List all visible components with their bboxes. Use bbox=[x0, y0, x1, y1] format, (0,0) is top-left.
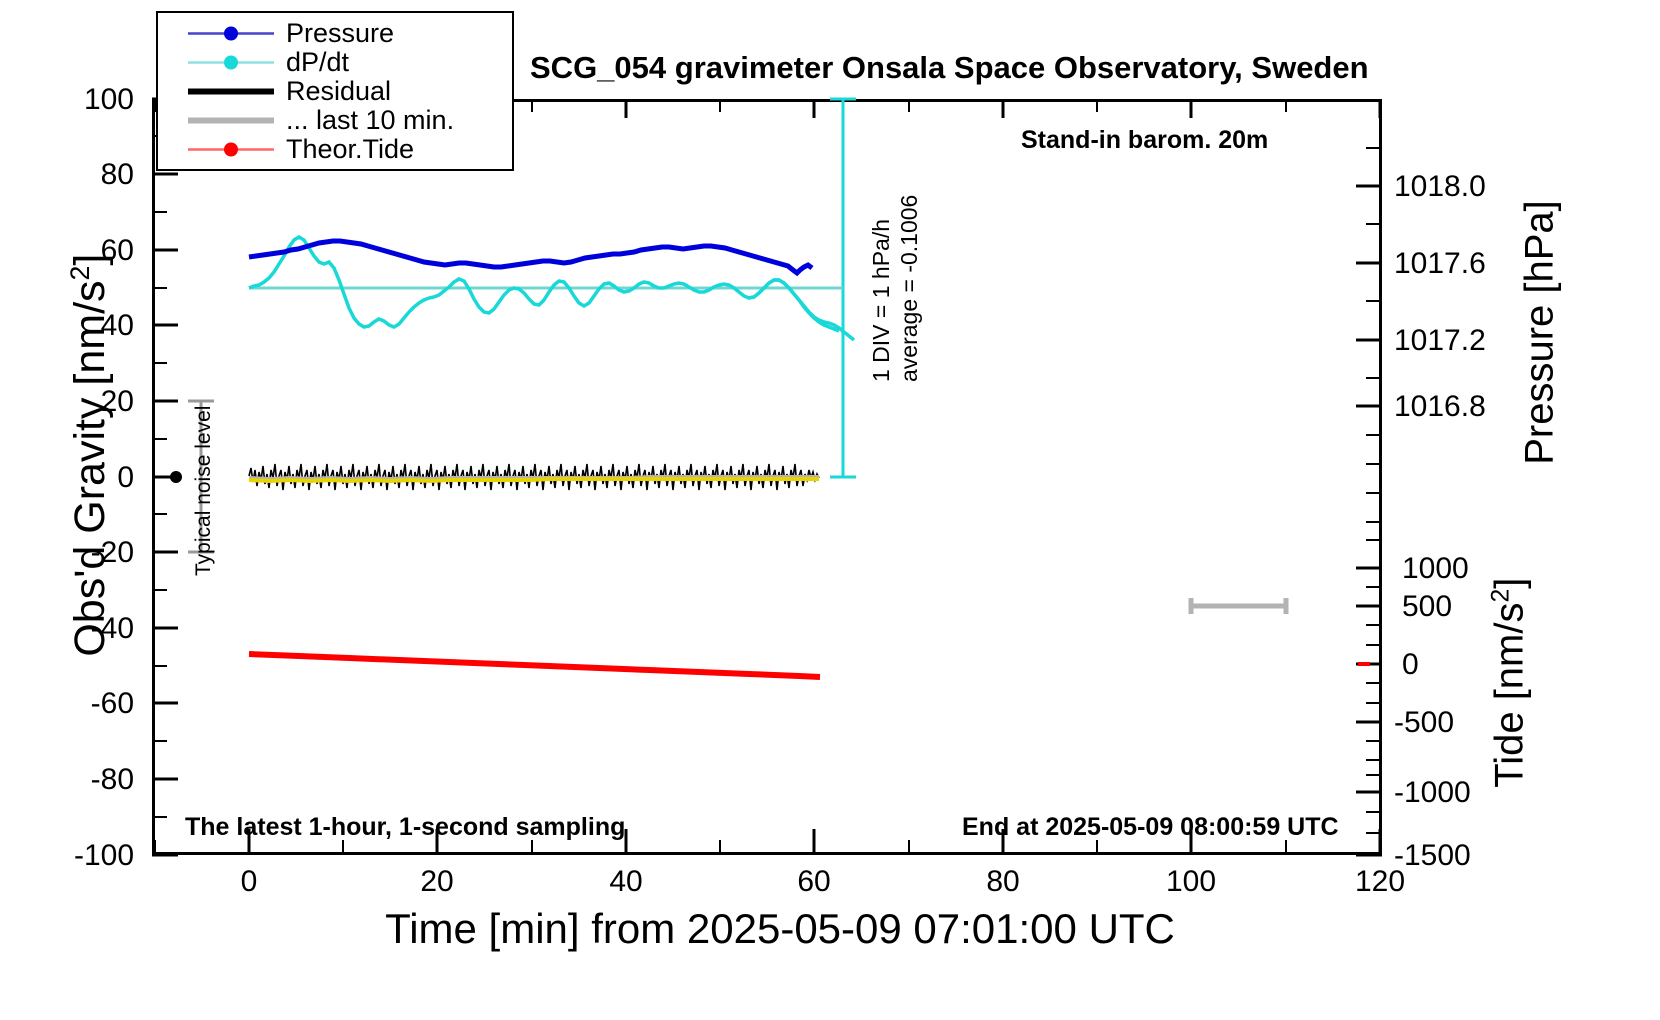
xtick-1: 20 bbox=[377, 865, 497, 899]
legend-symbol-pressure bbox=[186, 19, 276, 48]
y-axis-right-tide-title-end: ] bbox=[1488, 578, 1532, 589]
ytick-left-9: -80 bbox=[14, 763, 134, 797]
y-axis-right-tide-title-sup: 2 bbox=[1487, 589, 1514, 603]
legend-symbol-last10 bbox=[186, 106, 276, 135]
y-axis-right-tide-title: Tide [nm/s2] bbox=[1487, 473, 1532, 893]
legend[interactable]: Pressure dP/dt Residual ... last 10 min. bbox=[156, 11, 514, 171]
legend-label-theor-tide: Theor.Tide bbox=[286, 134, 414, 165]
legend-item-residual[interactable]: Residual bbox=[158, 77, 512, 106]
x-axis-title: Time [min] from 2025-05-09 07:01:00 UTC bbox=[150, 905, 1410, 953]
legend-item-last10[interactable]: ... last 10 min. bbox=[158, 106, 512, 135]
annotation-average: average = -0.1006 bbox=[896, 195, 923, 382]
right-axis-ticks bbox=[1356, 186, 1382, 855]
legend-item-pressure[interactable]: Pressure bbox=[158, 19, 512, 48]
x-axis-minor-ticks bbox=[155, 840, 1286, 855]
y-axis-left-title: Obs'd Gravity [nm/s2] bbox=[65, 175, 115, 735]
legend-symbol-residual bbox=[186, 77, 276, 106]
legend-label-residual: Residual bbox=[286, 76, 391, 107]
y-axis-left-title-sup: 2 bbox=[65, 266, 95, 281]
legend-label-dpdt: dP/dt bbox=[286, 47, 349, 78]
annotation-footer-right: End at 2025-05-09 08:00:59 UTC bbox=[962, 813, 1339, 842]
series-theor-tide bbox=[249, 654, 820, 677]
legend-item-theor-tide[interactable]: Theor.Tide bbox=[158, 135, 512, 164]
xtick-4: 80 bbox=[943, 865, 1063, 899]
xtick-0: 0 bbox=[189, 865, 309, 899]
noise-level-dot bbox=[170, 471, 182, 483]
right-axis-minor-ticks bbox=[1366, 148, 1382, 833]
annotation-div-scale: 1 DIV = 1 hPa/h bbox=[868, 219, 895, 382]
legend-symbol-theor-tide bbox=[186, 135, 276, 164]
legend-item-dpdt[interactable]: dP/dt bbox=[158, 48, 512, 77]
annotation-footer-left: The latest 1-hour, 1-second sampling bbox=[185, 813, 625, 842]
chart-root: 100 80 60 40 20 0 -20 -40 -60 -80 -100 1… bbox=[0, 0, 1660, 1020]
y-axis-left-title-text: Obs'd Gravity [nm/s bbox=[66, 280, 114, 656]
xtick-3: 60 bbox=[754, 865, 874, 899]
annotation-noise-level: Typical noise level bbox=[192, 406, 216, 576]
ytick-left-10: -100 bbox=[14, 839, 134, 873]
xtick-5: 100 bbox=[1131, 865, 1251, 899]
chart-title: SCG_054 gravimeter Onsala Space Observat… bbox=[530, 50, 1369, 86]
series-residual-smoothed bbox=[249, 479, 819, 481]
last10-sample-bar bbox=[1191, 598, 1286, 614]
legend-label-pressure: Pressure bbox=[286, 18, 394, 49]
legend-label-last10: ... last 10 min. bbox=[286, 105, 454, 136]
xtick-2: 40 bbox=[566, 865, 686, 899]
ytick-right-tide-1: 500 bbox=[1402, 590, 1562, 624]
ytick-right-tide-2: 0 bbox=[1402, 648, 1562, 682]
xtick-6: 120 bbox=[1320, 865, 1440, 899]
annotation-standin-barom: Stand-in barom. 20m bbox=[1021, 126, 1268, 155]
y-axis-left-title-end: ] bbox=[66, 254, 114, 266]
ytick-left-0: 100 bbox=[14, 83, 134, 117]
y-axis-right-tide-title-text: Tide [nm/s bbox=[1488, 603, 1532, 788]
legend-symbol-dpdt bbox=[186, 48, 276, 77]
